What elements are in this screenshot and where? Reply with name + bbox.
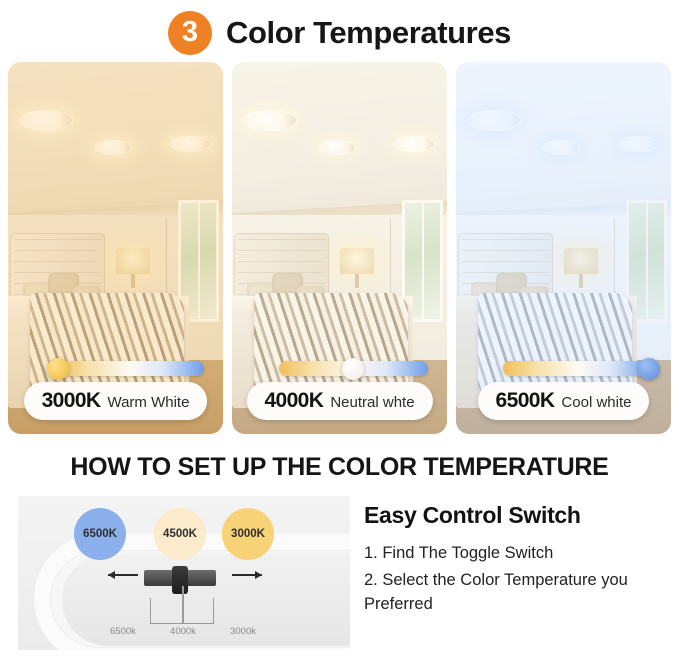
step-2: 2. Select the Color Temperature you Pref…	[364, 569, 661, 617]
table-lamp-icon	[564, 248, 598, 274]
arrow-left-icon	[108, 574, 138, 576]
bedroom-scene-warm	[8, 62, 223, 434]
temperature-label-3000k: 3000K Warm White	[24, 382, 208, 420]
color-temperature-panels: 3000K Warm White	[0, 62, 679, 434]
table-lamp-icon	[116, 248, 150, 274]
tick-label-3000k: 3000k	[230, 626, 256, 637]
howto-body: 6500K 4500K 3000K 6500k 4000k 3000k Easy…	[0, 482, 679, 650]
page-header: 3 Color Temperatures	[0, 0, 679, 62]
panel-6500k: 6500K Cool white	[456, 62, 671, 434]
chip-6500k: 6500K	[74, 508, 126, 560]
switch-tick-labels: 6500k 4000k 3000k	[110, 626, 256, 637]
slider-track[interactable]	[503, 361, 651, 376]
kelvin-value: 6500K	[496, 389, 555, 413]
slider-track[interactable]	[55, 361, 203, 376]
switch-lever[interactable]	[172, 566, 188, 594]
slider-knob[interactable]	[342, 358, 364, 380]
chip-3000k: 3000K	[222, 508, 274, 560]
step-1: 1. Find The Toggle Switch	[364, 542, 661, 566]
position-bracket-icon	[150, 598, 214, 624]
switch-diagram: 6500K 4500K 3000K 6500k 4000k 3000k	[18, 496, 350, 650]
bedroom-scene-neutral	[232, 62, 447, 434]
temperature-label-4000k: 4000K Neutral whte	[246, 382, 432, 420]
temperature-name: Cool white	[561, 394, 631, 411]
howto-text-block: Easy Control Switch 1. Find The Toggle S…	[364, 496, 661, 650]
easy-control-switch-title: Easy Control Switch	[364, 502, 661, 529]
temperature-slider-6500k[interactable]	[503, 361, 651, 376]
table-lamp-icon	[340, 248, 374, 274]
step-number-badge: 3	[168, 11, 212, 55]
temperature-label-6500k: 6500K Cool white	[478, 382, 650, 420]
arrow-right-icon	[232, 574, 262, 576]
temperature-name: Neutral whte	[330, 394, 414, 411]
page-title: Color Temperatures	[226, 15, 511, 51]
tick-label-4000k: 4000k	[170, 626, 196, 637]
slider-knob[interactable]	[47, 358, 69, 380]
temperature-slider-3000k[interactable]	[55, 361, 203, 376]
bedroom-scene-cool	[456, 62, 671, 434]
panel-4000k: 4000K Neutral whte	[232, 62, 447, 434]
temperature-name: Warm White	[107, 394, 189, 411]
tick-label-6500k: 6500k	[110, 626, 136, 637]
kelvin-value: 4000K	[264, 389, 323, 413]
slider-knob[interactable]	[638, 358, 660, 380]
panel-3000k: 3000K Warm White	[8, 62, 223, 434]
chip-4500k: 4500K	[154, 508, 206, 560]
toggle-switch[interactable]: 6500k 4000k 3000k	[114, 568, 254, 638]
howto-title: HOW TO SET UP THE COLOR TEMPERATURE	[0, 453, 679, 482]
temperature-slider-4000k[interactable]	[279, 361, 427, 376]
kelvin-value: 3000K	[42, 389, 101, 413]
